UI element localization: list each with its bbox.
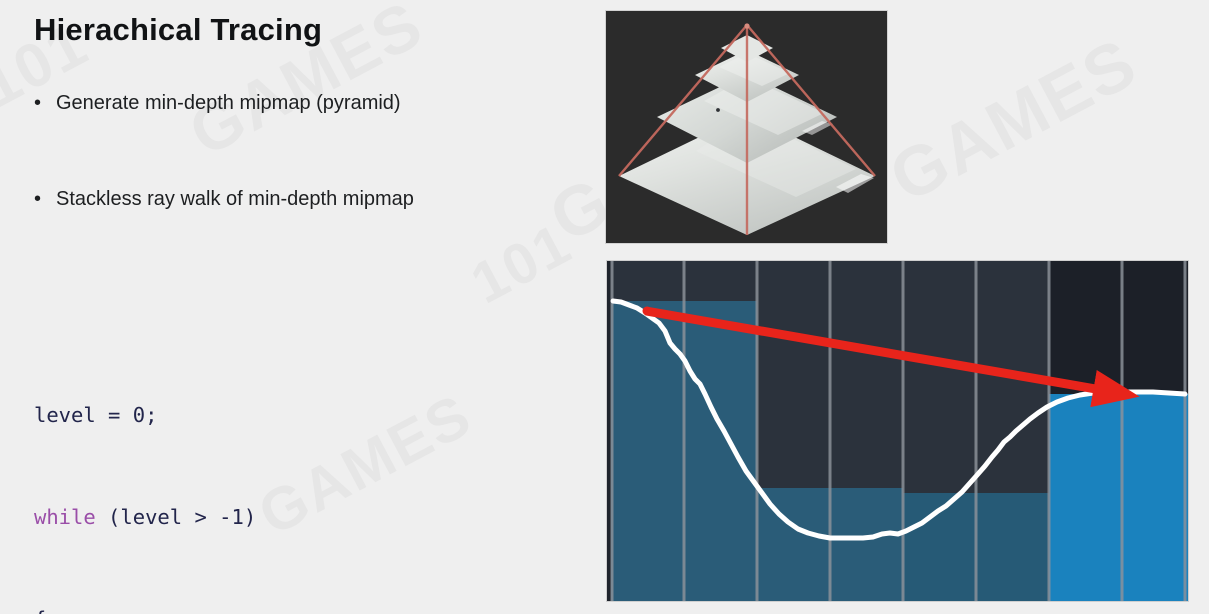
pyramid-sample-point <box>716 108 720 112</box>
page-title: Hierachical Tracing <box>34 12 322 48</box>
code-token: ; <box>145 403 157 427</box>
pyramid-svg <box>606 11 887 243</box>
code-token: 0 <box>133 403 145 427</box>
bullet-item-1: • Stackless ray walk of min-depth mipmap <box>34 188 414 211</box>
mipmap-walk-svg <box>607 261 1188 601</box>
mipmap-ray-walk-figure <box>606 260 1189 602</box>
bullet-marker-icon: • <box>34 92 56 115</box>
watermark: 101 <box>460 210 582 317</box>
code-line-2: { <box>34 602 417 614</box>
walk-left-edge <box>607 261 611 601</box>
bullet-text: Generate min-depth mipmap (pyramid) <box>56 92 401 115</box>
code-line-0: level = 0; <box>34 398 417 432</box>
code-token: (level > -1) <box>96 505 256 529</box>
pyramid-apex-marker <box>744 23 749 28</box>
mipmap-pyramid-figure <box>606 11 887 243</box>
code-token: = <box>96 403 133 427</box>
bullet-item-0: • Generate min-depth mipmap (pyramid) <box>34 92 401 115</box>
slide-canvas: 101 GAMES GAMES GAMES GAMES 101 Hierachi… <box>0 0 1209 614</box>
code-token: level <box>34 403 96 427</box>
bullet-text: Stackless ray walk of min-depth mipmap <box>56 188 414 211</box>
code-token-keyword: while <box>34 505 96 529</box>
code-block: level = 0; while (level > -1) { stepCurr… <box>34 296 417 614</box>
code-line-1: while (level > -1) <box>34 500 417 534</box>
code-token: { <box>34 607 46 614</box>
ray-origin-marker <box>643 307 652 316</box>
bullet-marker-icon: • <box>34 188 56 211</box>
watermark: GAMES <box>877 22 1150 218</box>
min-depth-cell-6-7-active <box>1049 394 1188 601</box>
